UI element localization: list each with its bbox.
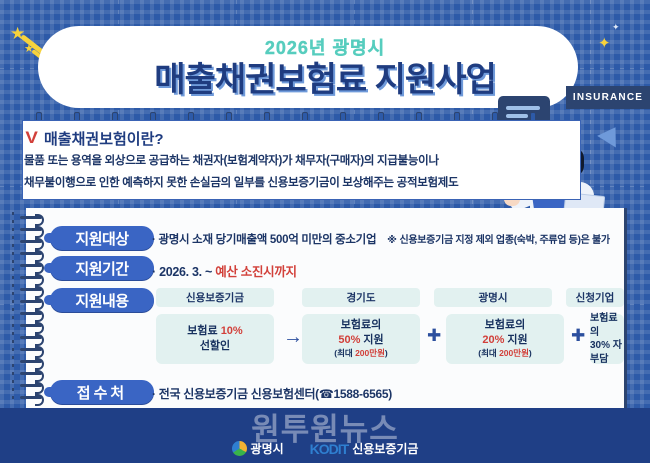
label-support-period[interactable]: 지원기간	[50, 256, 154, 280]
label-support-target[interactable]: 지원대상	[50, 226, 154, 250]
flow-box-gyeonggi: 보험료의 50% 지원 (최대 200만원)	[302, 314, 420, 364]
flow-box-gwangmyeong: 보험료의 20% 지원 (최대 200만원)	[446, 314, 564, 364]
box1-cap-close: )	[385, 348, 388, 358]
bubble-line	[506, 106, 540, 110]
box0-line2: 선할인	[200, 339, 230, 354]
flow-box-applicant: 보험료의 30% 자부담	[590, 314, 624, 364]
application-office-value: 전국 신용보증기금 신용보험센터(☎1588-6565)	[159, 387, 392, 401]
note-line-2: 채무불이행으로 인한 예측하지 못한 손실금의 일부를 신용보증기금이 보상해주…	[24, 174, 458, 190]
logo-kodit-label: 신용보증기금	[352, 440, 418, 457]
flow-operator-plus-2: ✚	[571, 326, 585, 346]
box3-line1: 보험료의	[590, 312, 624, 339]
box2-cap-open: (최대	[478, 348, 499, 358]
box0-text: 보험료	[187, 325, 220, 337]
support-target-note: 신용보증기금 지정 제외 업종(숙박, 주류업 등)은 불가	[399, 235, 609, 246]
star-icon: ✦	[612, 22, 620, 33]
box1-suffix: 지원	[360, 334, 383, 346]
flow-header-2: 광명시	[434, 288, 552, 307]
support-target-text: · 광명시 소재 당기매출액 500억 미만의 중소기업 ※ 신용보증기금 지정…	[152, 231, 610, 247]
bullet-icon: ·	[152, 387, 156, 401]
logo-kodit: KODIT 신용보증기금	[310, 440, 419, 457]
label-support-content[interactable]: 지원내용	[50, 288, 154, 312]
application-office-text: · 전국 신용보증기금 신용보험센터(☎1588-6565)	[152, 385, 392, 402]
label-application-office[interactable]: 접수처	[50, 380, 154, 404]
footer-logos: 광명시 KODIT 신용보증기금	[0, 440, 650, 457]
box0-pct: 10%	[221, 325, 243, 337]
support-target-value: 광명시 소재 당기매출액 500억 미만의 중소기업	[158, 234, 376, 246]
box1-pct: 50%	[338, 334, 360, 346]
box2-suffix: 지원	[504, 334, 527, 346]
logo-gwangmyeong: 광명시	[232, 440, 284, 457]
bullet-icon: ·	[152, 265, 156, 279]
flow-box-kodit: 보험료 10% 선할인	[156, 314, 274, 364]
kodit-mark-icon: KODIT	[310, 441, 349, 457]
box1-cap-open: (최대	[334, 348, 355, 358]
box2-cap-amount: 200만원	[499, 348, 529, 358]
poster-root: ★ ★ ✦ ✦ 2026년 광명시 매출채권보험료 지원사업 INSURANCE	[0, 0, 650, 463]
logo-city-label: 광명시	[251, 440, 284, 457]
cursor-arrow-icon	[597, 121, 625, 147]
panel-spiral-binding	[20, 212, 36, 404]
page-title: 매출채권보험료 지원사업	[0, 52, 650, 101]
box2-cap-close: )	[529, 348, 532, 358]
box2-caption: (최대 200만원)	[478, 348, 532, 359]
flow-header-3: 신청기업	[566, 288, 624, 307]
check-icon: V	[25, 128, 37, 148]
flow-operator-plus-1: ✚	[427, 326, 441, 346]
box2-line1: 보험료의	[485, 318, 525, 333]
box3-line2: 30% 자부담	[590, 339, 624, 366]
bullet-icon: ·	[152, 234, 156, 246]
support-period-end: 예산 소진시까지	[215, 265, 297, 279]
box1-line1: 보험료의	[341, 318, 381, 333]
support-period-text: · 2026. 3. ~ 예산 소진시까지	[152, 261, 297, 280]
box1-cap-amount: 200만원	[355, 348, 385, 358]
flow-header-0: 신용보증기금	[156, 288, 274, 307]
box1-caption: (최대 200만원)	[334, 348, 388, 359]
note-title: 매출채권보험이란?	[44, 128, 164, 149]
note-line-1: 물품 또는 용역을 외상으로 공급하는 채권자(보험계약자)가 채무자(구매자)…	[24, 152, 439, 168]
gwangmyeong-mark-icon	[232, 441, 247, 456]
box2-pct: 20%	[482, 334, 504, 346]
asterisk-icon: ※	[387, 235, 396, 246]
flow-header-1: 경기도	[302, 288, 420, 307]
flow-operator-arrow: →	[283, 326, 303, 349]
perforation-edge	[12, 212, 14, 404]
support-period-start: 2026. 3. ~	[159, 265, 215, 279]
